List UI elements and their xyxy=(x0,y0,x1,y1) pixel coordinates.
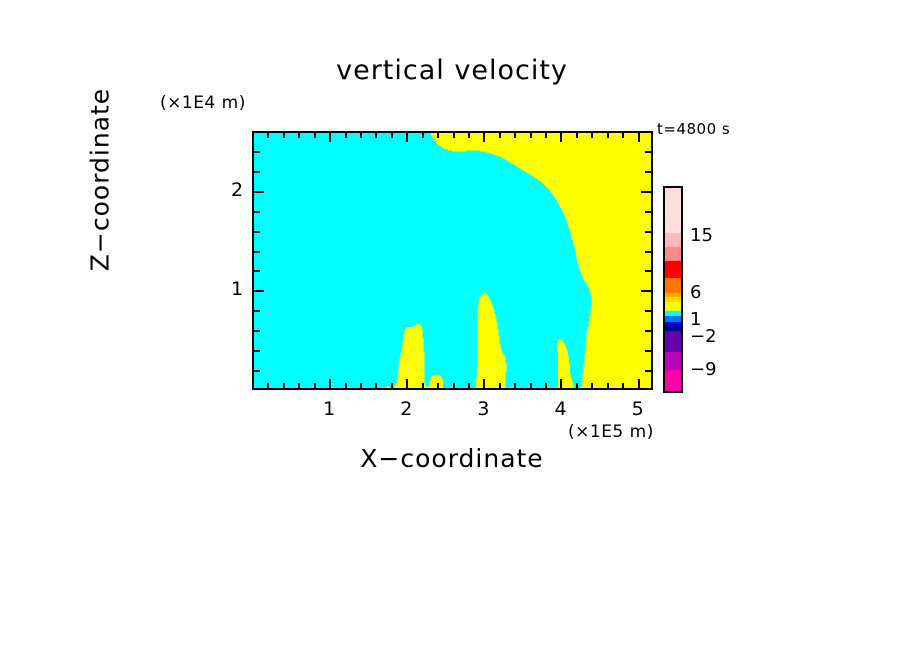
tick-mark xyxy=(545,133,547,138)
y-tick-label: 2 xyxy=(231,179,243,201)
y-tick-label: 1 xyxy=(231,278,243,300)
tick-mark xyxy=(254,211,260,213)
tick-mark xyxy=(645,270,651,272)
page-title: vertical velocity xyxy=(0,55,904,86)
colorbar-band xyxy=(665,352,681,370)
tick-mark xyxy=(453,133,455,138)
tick-mark xyxy=(483,379,485,388)
tick-mark xyxy=(645,350,651,352)
tick-mark xyxy=(360,383,362,388)
tick-mark xyxy=(591,133,593,138)
tick-mark xyxy=(422,383,424,388)
tick-mark xyxy=(314,133,316,138)
tick-mark xyxy=(468,133,470,138)
tick-mark xyxy=(314,383,316,388)
tick-mark xyxy=(576,383,578,388)
tick-mark xyxy=(254,310,260,312)
tick-mark xyxy=(329,133,331,142)
tick-mark xyxy=(607,383,609,388)
tick-mark xyxy=(267,133,269,138)
tick-mark xyxy=(345,383,347,388)
tick-mark xyxy=(645,151,651,153)
x-tick-label: 3 xyxy=(477,398,489,420)
field-canvas xyxy=(254,133,651,388)
tick-mark xyxy=(360,133,362,138)
tick-mark xyxy=(560,379,562,388)
colorbar-tick-label: 6 xyxy=(690,282,701,303)
tick-mark xyxy=(591,383,593,388)
x-axis-title: X−coordinate xyxy=(0,444,904,473)
colorbar-tick-label: −2 xyxy=(690,326,717,347)
tick-mark xyxy=(254,251,260,253)
tick-mark xyxy=(406,133,408,142)
tick-mark xyxy=(437,383,439,388)
tick-mark xyxy=(254,191,264,193)
tick-mark xyxy=(530,383,532,388)
tick-mark xyxy=(254,171,260,173)
tick-mark xyxy=(254,330,260,332)
tick-mark xyxy=(645,310,651,312)
tick-mark xyxy=(298,133,300,138)
x-tick-label: 1 xyxy=(323,398,335,420)
tick-mark xyxy=(437,133,439,138)
colorbar-band xyxy=(665,331,681,352)
tick-mark xyxy=(645,211,651,213)
tick-mark xyxy=(560,133,562,142)
tick-mark xyxy=(375,383,377,388)
tick-mark xyxy=(545,383,547,388)
colorbar-tick-label: 15 xyxy=(690,225,713,246)
timestamp-annotation: t=4800 s xyxy=(657,120,730,138)
tick-mark xyxy=(645,171,651,173)
colorbar-band xyxy=(665,370,681,391)
tick-mark xyxy=(638,379,640,388)
colorbar xyxy=(663,186,683,393)
tick-mark xyxy=(645,330,651,332)
tick-mark xyxy=(622,133,624,138)
tick-mark xyxy=(283,383,285,388)
tick-mark xyxy=(375,133,377,138)
tick-mark xyxy=(254,290,264,292)
tick-mark xyxy=(345,133,347,138)
tick-mark xyxy=(499,383,501,388)
y-axis-title: Z−coordinate xyxy=(86,20,115,340)
tick-mark xyxy=(254,350,260,352)
tick-mark xyxy=(298,383,300,388)
tick-mark xyxy=(645,251,651,253)
colorbar-band xyxy=(665,247,681,261)
colorbar-band xyxy=(665,278,681,292)
tick-mark xyxy=(645,370,651,372)
tick-mark xyxy=(283,133,285,138)
tick-mark xyxy=(622,383,624,388)
tick-mark xyxy=(391,383,393,388)
tick-mark xyxy=(499,133,501,138)
tick-mark xyxy=(329,379,331,388)
x-axis-unit-label: (×1E5 m) xyxy=(568,422,654,442)
tick-mark xyxy=(483,133,485,142)
tick-mark xyxy=(406,379,408,388)
tick-mark xyxy=(514,383,516,388)
tick-mark xyxy=(530,133,532,138)
colorbar-band xyxy=(665,233,681,247)
tick-mark xyxy=(514,133,516,138)
colorbar-band xyxy=(665,188,681,233)
tick-mark xyxy=(576,133,578,138)
tick-mark xyxy=(254,151,260,153)
tick-mark xyxy=(641,191,651,193)
x-tick-label: 4 xyxy=(554,398,566,420)
vertical-velocity-field xyxy=(254,133,651,388)
contour-plot-area xyxy=(252,131,653,390)
tick-mark xyxy=(422,133,424,138)
x-tick-label: 2 xyxy=(400,398,412,420)
colorbar-tick-label: −9 xyxy=(690,359,717,380)
tick-mark xyxy=(468,383,470,388)
tick-mark xyxy=(607,133,609,138)
tick-mark xyxy=(638,133,640,142)
tick-mark xyxy=(254,231,260,233)
tick-mark xyxy=(641,290,651,292)
tick-mark xyxy=(645,231,651,233)
colorbar-band xyxy=(665,261,681,278)
x-tick-label: 5 xyxy=(632,398,644,420)
tick-mark xyxy=(267,383,269,388)
tick-mark xyxy=(391,133,393,138)
tick-mark xyxy=(254,370,260,372)
tick-mark xyxy=(254,270,260,272)
tick-mark xyxy=(453,383,455,388)
y-axis-unit-label: (×1E4 m) xyxy=(160,93,246,113)
